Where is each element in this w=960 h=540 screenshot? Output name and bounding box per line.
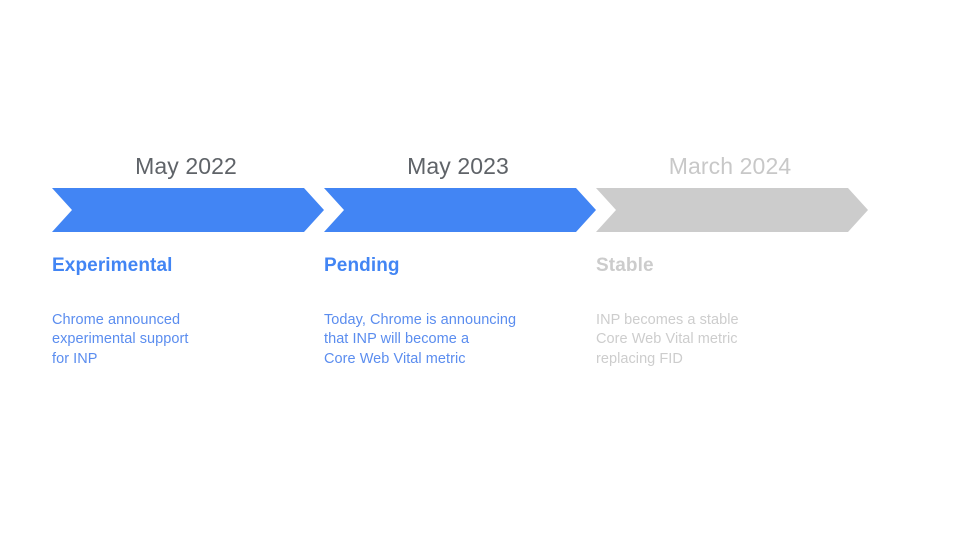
stage-description: INP becomes a stable Core Web Vital metr…	[596, 311, 846, 369]
description-line: INP becomes a stable	[596, 311, 846, 330]
description-line: that INP will become a	[324, 330, 574, 349]
stage-status-heading: Pending	[324, 254, 400, 278]
description-line: experimental support	[52, 330, 302, 349]
inp-timeline-diagram: May 2022 Experimental Chrome announced e…	[0, 0, 960, 540]
stage-status-heading: Experimental	[52, 254, 173, 278]
stage-description: Today, Chrome is announcing that INP wil…	[324, 311, 574, 369]
stage-description: Chrome announced experimental support fo…	[52, 311, 302, 369]
description-line: for INP	[52, 350, 302, 369]
stage-date-label: May 2023	[324, 152, 592, 180]
chevron-arrow-shape	[596, 188, 868, 232]
description-line: Chrome announced	[52, 311, 302, 330]
description-line: Core Web Vital metric	[324, 350, 574, 369]
description-line: Core Web Vital metric	[596, 330, 846, 349]
stage-status-heading: Stable	[596, 254, 654, 278]
description-line: Today, Chrome is announcing	[324, 311, 574, 330]
stage-date-label: May 2022	[52, 152, 320, 180]
stage-date-label: March 2024	[596, 152, 864, 180]
chevron-arrow-shape	[324, 188, 596, 232]
chevron-arrow-shape	[52, 188, 324, 232]
description-line: replacing FID	[596, 350, 846, 369]
